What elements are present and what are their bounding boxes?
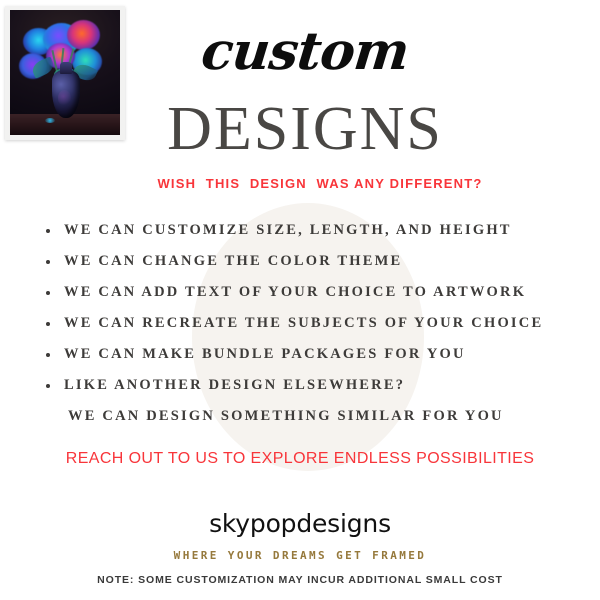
brand-name: skypopdesigns [0,509,600,538]
custom-designs-poster: custom DESIGNS WISH THIS DESIGN WAS ANY … [0,0,600,600]
list-item-label: WE CAN CUSTOMIZE SIZE, LENGTH, AND HEIGH… [64,222,512,238]
artwork-canvas [10,10,120,135]
bullet-dot-icon [46,229,50,233]
capabilities-list: WE CAN CUSTOMIZE SIZE, LENGTH, AND HEIGH… [44,215,584,432]
list-item: WE CAN MAKE BUNDLE PACKAGES FOR YOU [44,339,584,370]
headline-script-custom: custom [137,26,472,78]
list-item: WE CAN ADD TEXT OF YOUR CHOICE TO ARTWOR… [44,277,584,308]
artwork-thumbnail[interactable] [5,6,125,140]
list-item-label: WE CAN DESIGN SOMETHING SIMILAR FOR YOU [68,408,504,424]
list-item-label: WE CAN MAKE BUNDLE PACKAGES FOR YOU [64,346,466,362]
list-item-label: WE CAN ADD TEXT OF YOUR CHOICE TO ARTWOR… [64,284,526,300]
list-item: WE CAN RECREATE THE SUBJECTS OF YOUR CHO… [44,308,584,339]
list-item-label: WE CAN CHANGE THE COLOR THEME [64,253,402,269]
list-item: WE CAN CUSTOMIZE SIZE, LENGTH, AND HEIGH… [44,215,584,246]
call-to-action-text: REACH OUT TO US TO EXPLORE ENDLESS POSSI… [0,450,600,468]
list-item-continuation: WE CAN DESIGN SOMETHING SIMILAR FOR YOU [44,401,584,432]
footer-note: NOTE: SOME CUSTOMIZATION MAY INCUR ADDIT… [0,574,600,586]
vase [52,70,81,118]
list-item: WE CAN CHANGE THE COLOR THEME [44,246,584,277]
list-item: LIKE ANOTHER DESIGN ELSEWHERE? [44,370,584,401]
subheadline-question: WISH THIS DESIGN WAS ANY DIFFERENT? [0,176,600,191]
list-item-label: LIKE ANOTHER DESIGN ELSEWHERE? [64,377,405,393]
headline-designs: DESIGNS [130,98,480,160]
bullet-dot-icon [46,291,50,295]
fallen-petal [45,118,55,123]
bullet-dot-icon [46,353,50,357]
list-item-label: WE CAN RECREATE THE SUBJECTS OF YOUR CHO… [64,315,543,331]
bullet-dot-icon [46,322,50,326]
bullet-dot-icon [46,384,50,388]
bullet-dot-icon [46,260,50,264]
brand-tagline: WHERE YOUR DREAMS GET FRAMED [0,549,600,562]
flower-blossom [67,20,100,50]
